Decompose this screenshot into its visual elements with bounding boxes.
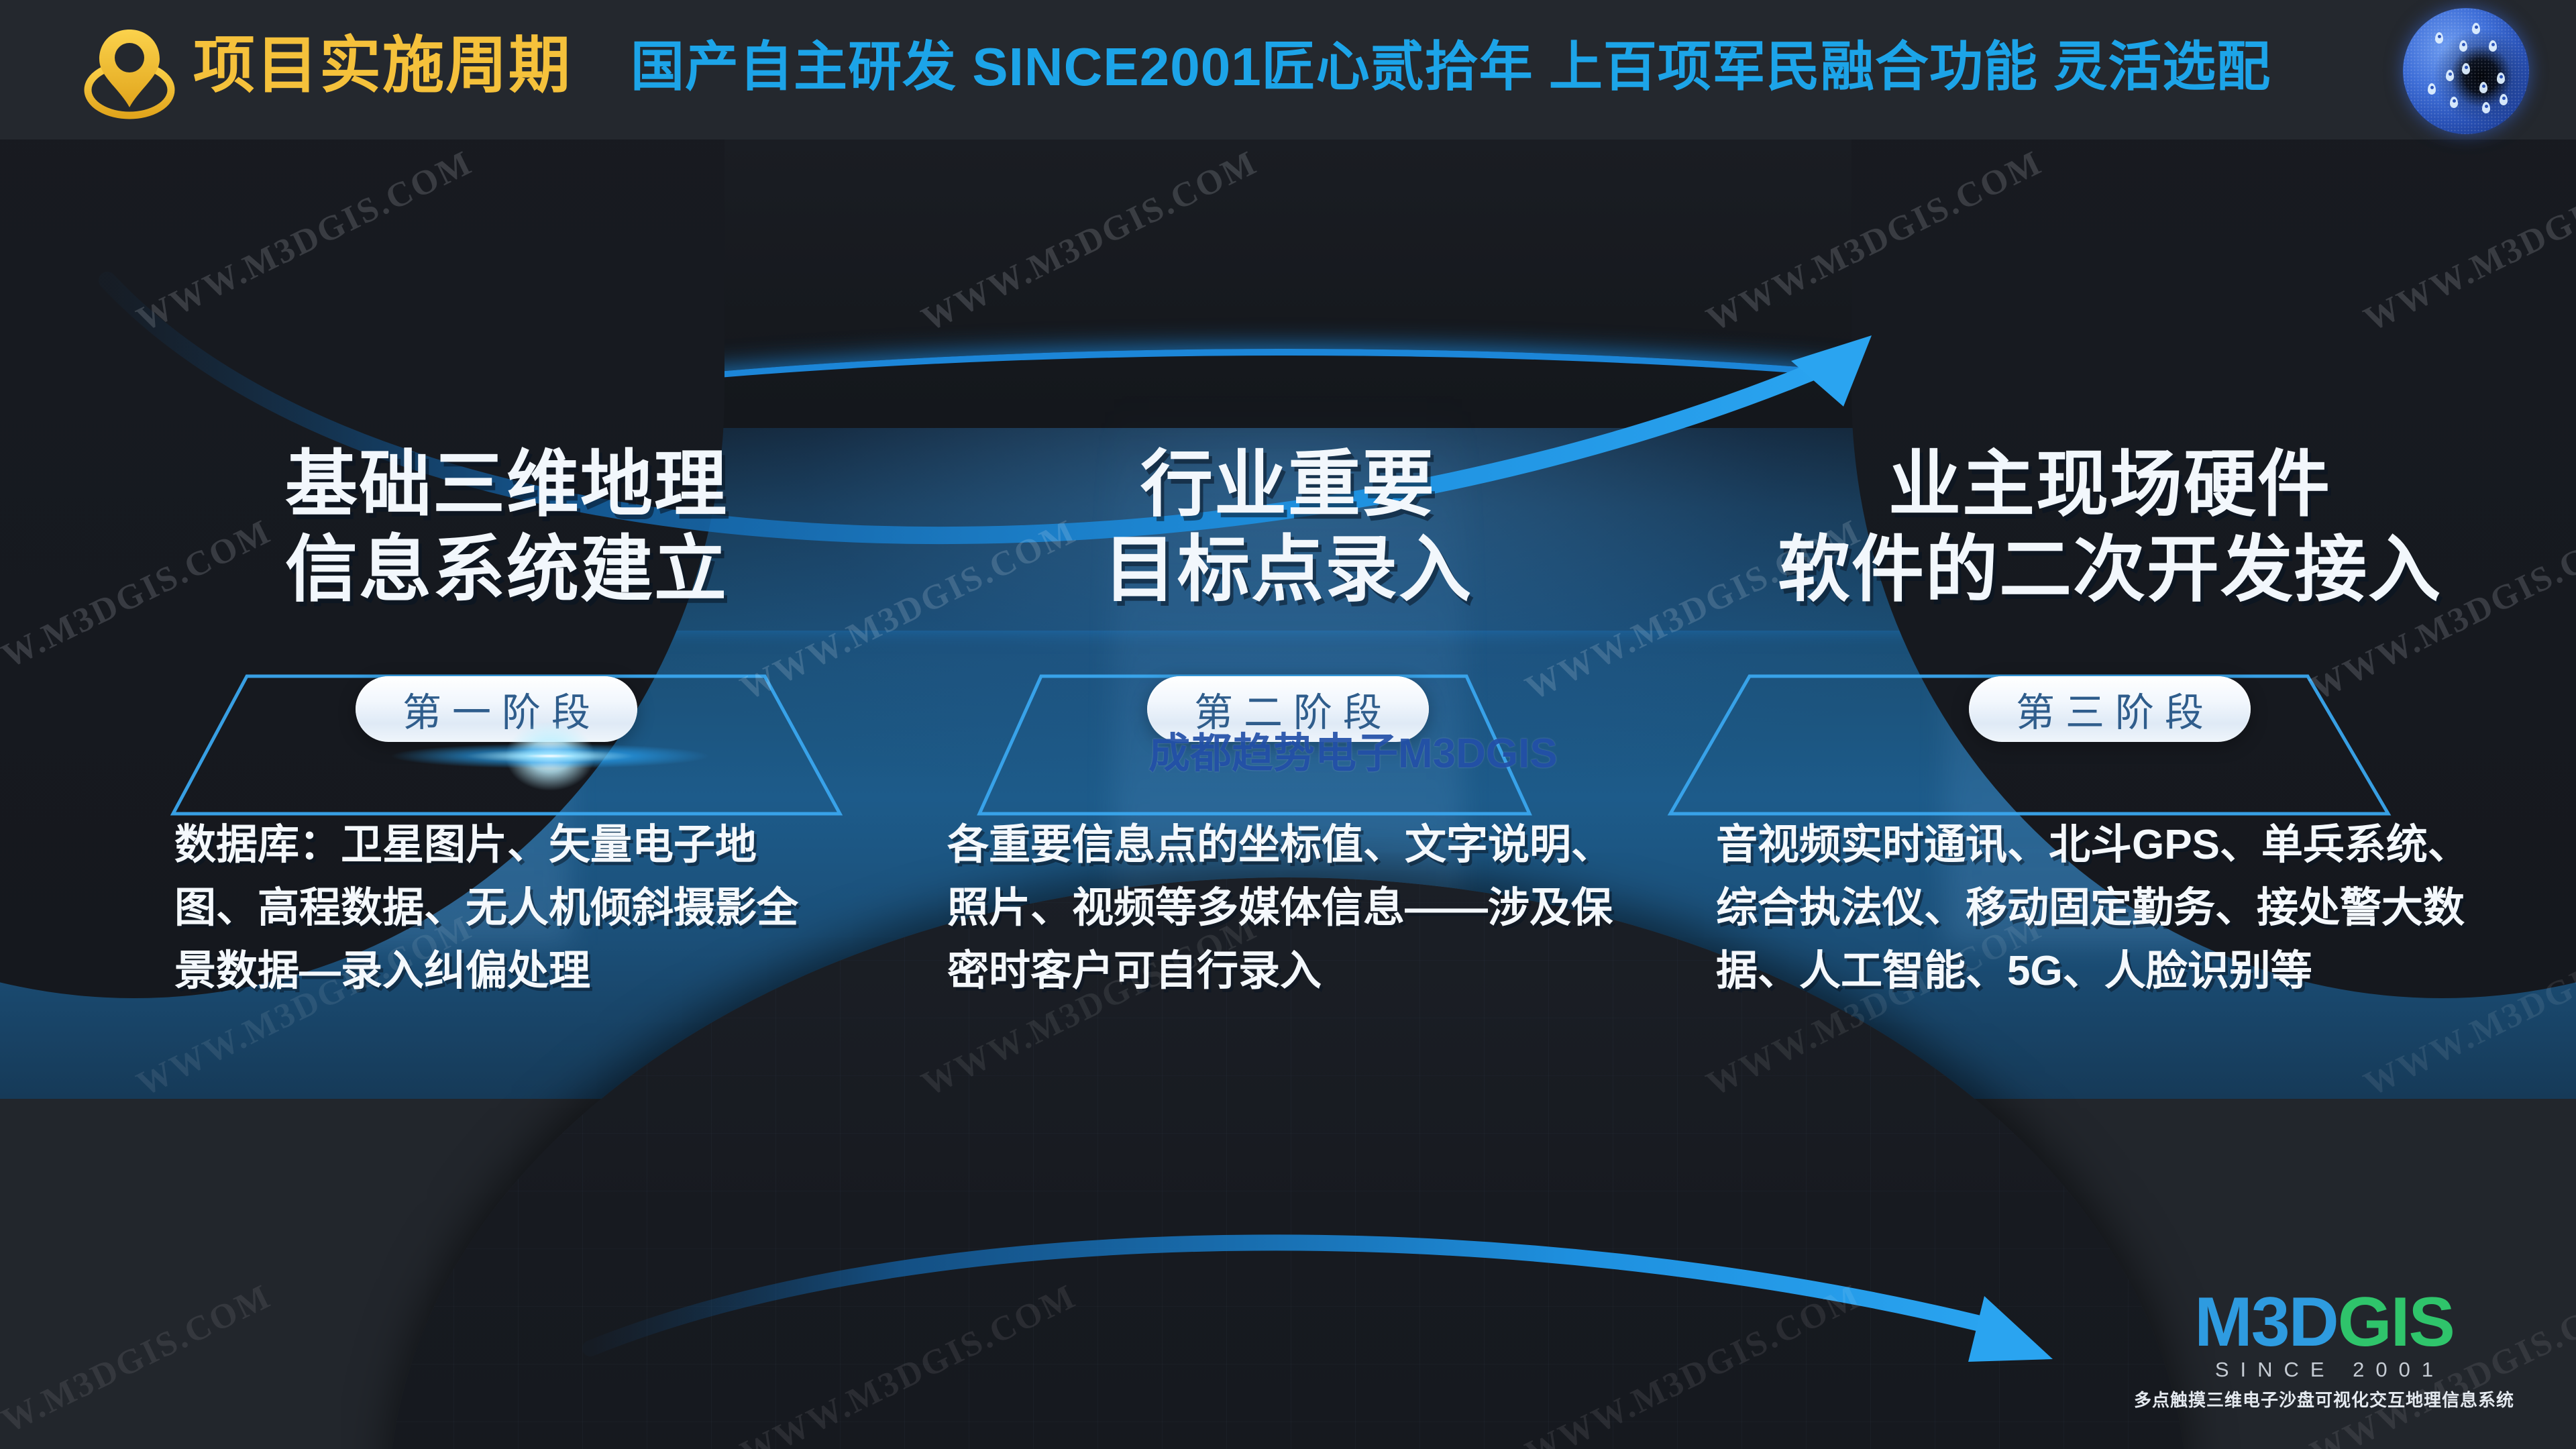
stage-badge-label-1: 第一阶段 (392, 681, 601, 737)
globe-pin (2462, 63, 2470, 74)
globe-pin (2489, 40, 2497, 52)
header-subtitle: 国产自主研发 SINCE2001匠心贰拾年 上百项军民融合功能 灵活选配 (631, 39, 2271, 95)
digital-globe-icon (2403, 8, 2529, 134)
globe-pin (2459, 40, 2467, 52)
stage-badge-1[interactable]: 第一阶段 (356, 676, 637, 742)
slide-canvas: 基础三维地理 信息系统建立 第一阶段 数据库：卫星图片、矢量电子地图、高程数据、… (0, 0, 2576, 1449)
globe-pin (2472, 23, 2480, 34)
m3dgis-logo: M3DGIS SINCE 2001 多点触摸三维电子沙盘可视化交互地理信息系统 (2134, 1291, 2514, 1411)
stage-body-1: 数据库：卫星图片、矢量电子地图、高程数据、无人机倾斜摄影全景数据—录入纠偏处理 (174, 814, 832, 1004)
stage-badge-label-3: 第三阶段 (2005, 681, 2214, 737)
logo-wordmark: M3DGIS (2134, 1291, 2514, 1355)
logo-gis-text: GIS (2338, 1283, 2454, 1361)
globe-pin (2500, 94, 2508, 105)
stage-title-2: 行业重要 目标点录入 (939, 441, 1637, 612)
globe-pin (2479, 82, 2487, 93)
stage-body-2: 各重要信息点的坐标值、文字说明、照片、视频等多媒体信息——涉及保密时客户可自行录… (947, 814, 1625, 1004)
globe-pin (2446, 70, 2454, 81)
header-title: 项目实施周期 (193, 35, 572, 97)
stage-body-3: 音视频实时通讯、北斗GPS、单兵系统、综合执法仪、移动固定勤务、接处警大数据、人… (1716, 814, 2504, 1004)
globe-pin (2428, 83, 2436, 95)
globe-pin (2435, 32, 2443, 44)
stage-badge-label-2: 第二阶段 (1183, 681, 1393, 737)
stage-badge-2[interactable]: 第二阶段 (1147, 676, 1429, 742)
globe-pin (2482, 102, 2490, 113)
stage-title-3: 业主现场硬件 软件的二次开发接入 (1704, 441, 2516, 612)
header-bar: 项目实施周期 国产自主研发 SINCE2001匠心贰拾年 上百项军民融合功能 灵… (0, 0, 2576, 140)
logo-m3d-text: M3D (2194, 1283, 2338, 1361)
stage-columns: 基础三维地理 信息系统建立 第一阶段 数据库：卫星图片、矢量电子地图、高程数据、… (0, 140, 2576, 1449)
globe-pin (2450, 97, 2458, 108)
stage-badge-3[interactable]: 第三阶段 (1969, 676, 2251, 742)
logo-since-text: SINCE 2001 (2134, 1358, 2514, 1382)
globe-pin (2497, 72, 2505, 84)
logo-tagline: 多点触摸三维电子沙盘可视化交互地理信息系统 (2134, 1387, 2514, 1411)
stage-title-1: 基础三维地理 信息系统建立 (161, 441, 852, 612)
map-pin-icon (79, 25, 180, 119)
